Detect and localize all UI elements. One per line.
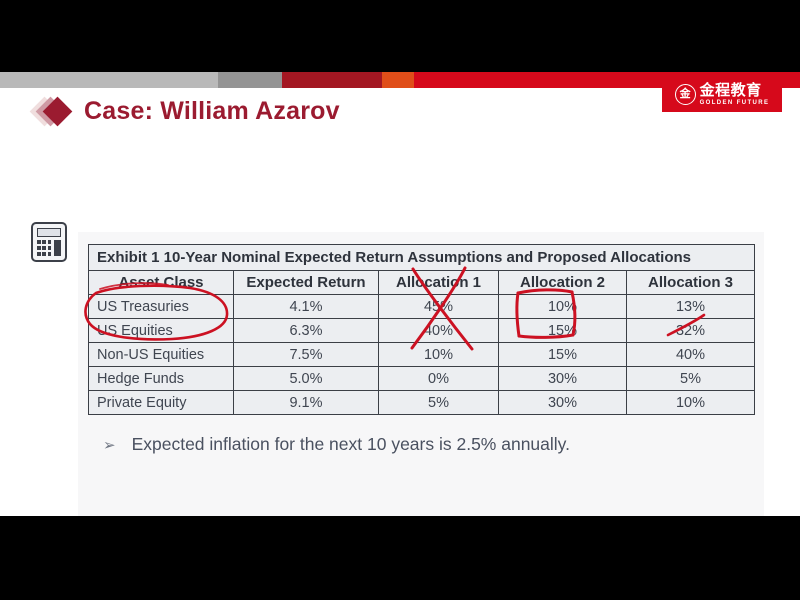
logo-wordmark: 金程教育 GOLDEN FUTURE — [700, 83, 770, 106]
cell-allocation-2: 30% — [499, 367, 627, 391]
cell-asset-class: US Equities — [89, 319, 234, 343]
page-title: Case: William Azarov — [84, 97, 340, 126]
ribbon-segment-gray — [218, 72, 282, 88]
column-header-allocation-1: Allocation 1 — [379, 271, 499, 295]
brand-logo: 金 金程教育 GOLDEN FUTURE — [662, 76, 782, 112]
table-row: Non-US Equities 7.5% 10% 15% 40% — [89, 343, 755, 367]
column-header-asset-class: Asset Class — [89, 271, 234, 295]
ribbon-segment-dark-red — [282, 72, 382, 88]
cell-allocation-1: 0% — [379, 367, 499, 391]
cell-allocation-1: 45% — [379, 295, 499, 319]
bullet-item: ➢ Expected inflation for the next 10 yea… — [103, 434, 570, 455]
cell-allocation-3: 10% — [627, 391, 755, 415]
exhibit-table-wrapper: Exhibit 1 10-Year Nominal Expected Retur… — [88, 244, 754, 415]
cell-expected-return: 4.1% — [234, 295, 379, 319]
table-row: US Equities 6.3% 40% 15% 32% — [89, 319, 755, 343]
logo-chinese-name: 金程教育 — [700, 83, 762, 98]
cell-allocation-2: 10% — [499, 295, 627, 319]
calculator-keypad — [37, 240, 61, 256]
cell-allocation-1: 10% — [379, 343, 499, 367]
exhibit-table: Exhibit 1 10-Year Nominal Expected Retur… — [88, 244, 755, 415]
calculator-enter-key — [54, 240, 61, 256]
cell-allocation-2: 30% — [499, 391, 627, 415]
cell-asset-class: Private Equity — [89, 391, 234, 415]
cell-allocation-1: 5% — [379, 391, 499, 415]
calculator-icon — [31, 222, 67, 262]
logo-seal-icon: 金 — [675, 84, 696, 105]
cell-expected-return: 5.0% — [234, 367, 379, 391]
cell-asset-class: Non-US Equities — [89, 343, 234, 367]
diamond-bullet-icon — [34, 96, 72, 126]
cell-asset-class: US Treasuries — [89, 295, 234, 319]
slide-title-row: Case: William Azarov — [34, 96, 340, 126]
logo-english-name: GOLDEN FUTURE — [700, 100, 770, 106]
cell-allocation-3: 5% — [627, 367, 755, 391]
cell-allocation-3: 13% — [627, 295, 755, 319]
cell-allocation-2: 15% — [499, 319, 627, 343]
table-row: Private Equity 9.1% 5% 30% 10% — [89, 391, 755, 415]
bullet-text: Expected inflation for the next 10 years… — [132, 434, 570, 455]
column-header-allocation-2: Allocation 2 — [499, 271, 627, 295]
arrow-bullet-icon: ➢ — [103, 438, 116, 453]
video-frame: 金 金程教育 GOLDEN FUTURE Case: William Azaro… — [0, 0, 800, 600]
cell-asset-class: Hedge Funds — [89, 367, 234, 391]
presentation-slide: 金 金程教育 GOLDEN FUTURE Case: William Azaro… — [0, 72, 800, 516]
table-row: US Treasuries 4.1% 45% 10% 13% — [89, 295, 755, 319]
cell-allocation-3: 40% — [627, 343, 755, 367]
table-caption-row: Exhibit 1 10-Year Nominal Expected Retur… — [89, 245, 755, 271]
cell-allocation-1: 40% — [379, 319, 499, 343]
table-header-row: Asset Class Expected Return Allocation 1… — [89, 271, 755, 295]
table-caption: Exhibit 1 10-Year Nominal Expected Retur… — [89, 245, 755, 271]
cell-expected-return: 7.5% — [234, 343, 379, 367]
cell-allocation-2: 15% — [499, 343, 627, 367]
column-header-allocation-3: Allocation 3 — [627, 271, 755, 295]
ribbon-segment-orange — [382, 72, 414, 88]
ribbon-segment-light-gray — [0, 72, 218, 88]
cell-expected-return: 6.3% — [234, 319, 379, 343]
calculator-display — [37, 228, 61, 237]
cell-expected-return: 9.1% — [234, 391, 379, 415]
column-header-expected-return: Expected Return — [234, 271, 379, 295]
table-row: Hedge Funds 5.0% 0% 30% 5% — [89, 367, 755, 391]
cell-allocation-3: 32% — [627, 319, 755, 343]
